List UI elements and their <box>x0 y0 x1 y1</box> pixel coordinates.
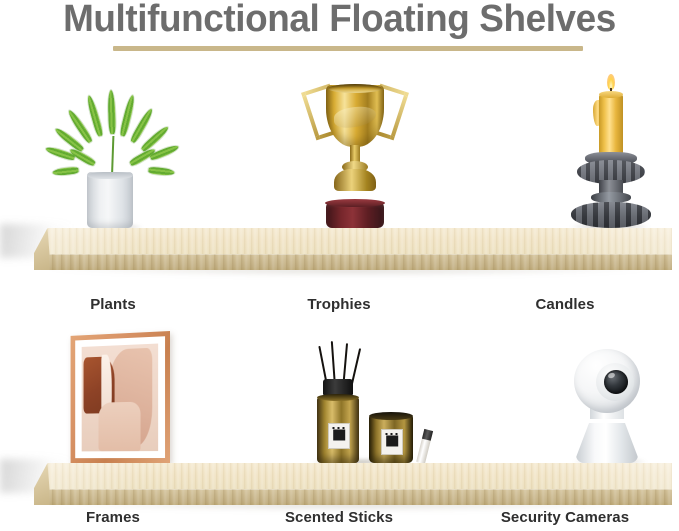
shelf-front-edge <box>34 254 672 270</box>
floating-shelf-top <box>34 228 672 270</box>
shelf-row-bottom <box>0 330 679 505</box>
caption-scented-sticks: Scented Sticks <box>226 509 452 526</box>
product-picture-frame <box>58 323 188 463</box>
frame-mat <box>75 336 165 458</box>
caption-frames: Frames <box>0 509 226 526</box>
shelf-row-top <box>0 95 679 270</box>
diffuser-stick <box>416 429 433 464</box>
page-title: Multifunctional Floating Shelves <box>10 0 669 41</box>
floating-shelf-bottom <box>34 463 672 505</box>
caption-candles: Candles <box>452 296 678 313</box>
caption-security-cameras: Security Cameras <box>452 509 678 526</box>
caption-row-bottom: Frames Scented Sticks Security Cameras <box>0 509 679 531</box>
trophy-base <box>326 202 384 228</box>
title-divider <box>113 46 583 51</box>
product-candle <box>555 68 665 228</box>
frame-artwork <box>82 344 158 452</box>
infographic-page: Multifunctional Floating Shelves <box>0 0 679 531</box>
frame-border <box>71 331 170 463</box>
caption-row-top: Plants Trophies Candles <box>0 296 679 318</box>
trophy-cup <box>326 85 384 147</box>
shelf-top-surface <box>34 228 672 255</box>
plant-pot <box>87 172 133 228</box>
shelf-end-grain <box>34 228 50 270</box>
shelf-stage-top <box>0 95 679 270</box>
shelf-front-edge <box>34 489 672 505</box>
product-reed-diffuser <box>295 323 425 463</box>
caption-plants: Plants <box>0 296 226 313</box>
camera-lens <box>604 370 628 394</box>
product-security-camera <box>550 343 670 463</box>
product-plant <box>55 78 175 228</box>
shelf-end-grain <box>34 463 50 505</box>
shelf-stage-bottom <box>0 330 679 505</box>
candle-jar <box>369 415 413 463</box>
product-trophy <box>300 73 410 228</box>
candle-body <box>599 94 623 156</box>
camera-base <box>576 423 638 463</box>
diffuser-cap <box>323 379 353 395</box>
shelf-top-surface <box>34 463 672 490</box>
candle-holder-base <box>571 202 651 228</box>
diffuser-bottle <box>317 397 359 463</box>
caption-trophies: Trophies <box>226 296 452 313</box>
